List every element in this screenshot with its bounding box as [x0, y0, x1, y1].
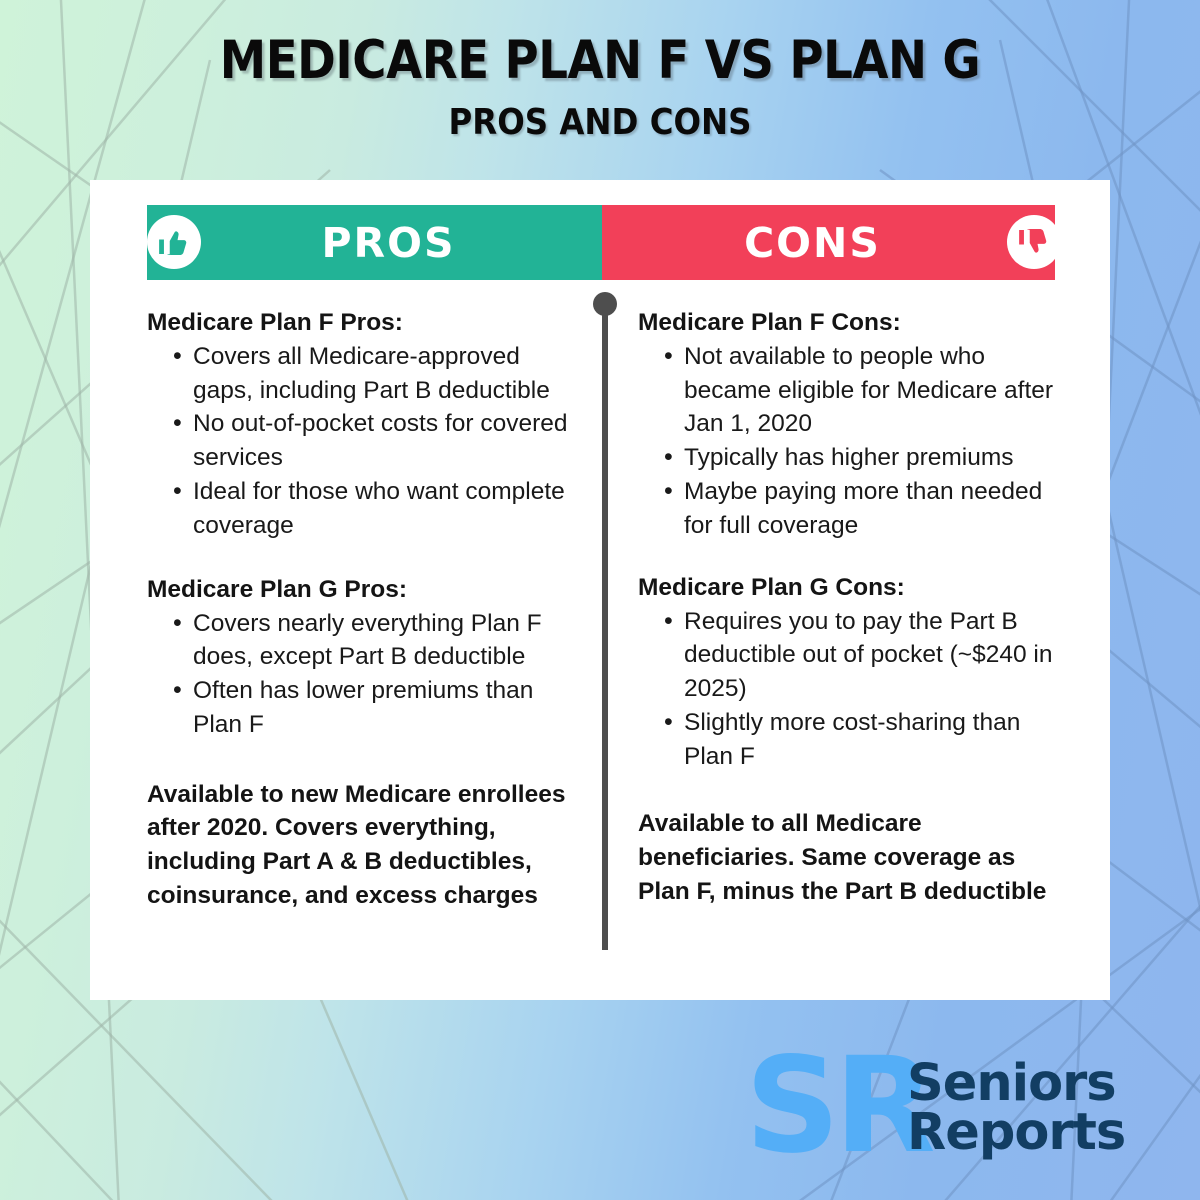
section-heading: Medicare Plan G Pros: — [147, 575, 577, 606]
logo-monogram: SR — [745, 1040, 930, 1172]
page-title: MEDICARE PLAN F VS PLAN G — [72, 34, 1128, 88]
list-item: Covers all Medicare-approved gaps, inclu… — [147, 340, 577, 408]
list-item: Requires you to pay the Part B deductibl… — [638, 605, 1063, 706]
bullet-list: Requires you to pay the Part B deductibl… — [638, 605, 1063, 774]
spacer — [638, 545, 1063, 573]
cons-header-bar: CONS — [602, 205, 1055, 280]
cons-summary: Available to all Medicare beneficiaries.… — [638, 807, 1063, 908]
list-item: No out-of-pocket costs for covered servi… — [147, 407, 577, 475]
pros-header-bar: PROS — [147, 205, 602, 280]
section-heading: Medicare Plan G Cons: — [638, 573, 1063, 604]
list-item: Covers nearly everything Plan F does, ex… — [147, 607, 577, 675]
bullet-list: Covers nearly everything Plan F does, ex… — [147, 607, 577, 742]
section-heading: Medicare Plan F Cons: — [638, 308, 1063, 339]
column-divider — [602, 305, 608, 950]
list-item: Typically has higher premiums — [638, 441, 1063, 475]
seniors-reports-logo[interactable]: SR Seniors Reports — [745, 1040, 1175, 1185]
pros-summary: Available to new Medicare enrollees afte… — [147, 778, 577, 913]
logo-line-2: Reports — [907, 1109, 1125, 1158]
thumbs-up-icon — [147, 215, 201, 269]
cons-section-plan-f: Medicare Plan F Cons: Not available to p… — [638, 308, 1063, 543]
pros-label: PROS — [321, 219, 455, 267]
logo-wordmark: Seniors Reports — [907, 1060, 1125, 1158]
logo-line-1: Seniors — [907, 1060, 1125, 1109]
pros-section-plan-f: Medicare Plan F Pros: Covers all Medicar… — [147, 308, 577, 543]
pros-column: Medicare Plan F Pros: Covers all Medicar… — [147, 308, 577, 913]
page-header: MEDICARE PLAN F VS PLAN G PROS AND CONS — [0, 34, 1200, 143]
page-subtitle: PROS AND CONS — [60, 102, 1140, 143]
thumbs-down-icon — [1007, 215, 1061, 269]
cons-section-plan-g: Medicare Plan G Cons: Requires you to pa… — [638, 573, 1063, 774]
comparison-card: PROS CONS Medicare Plan F Pros: Covers a… — [90, 180, 1110, 1000]
cons-column: Medicare Plan F Cons: Not available to p… — [638, 308, 1063, 909]
spacer — [147, 545, 577, 575]
bullet-list: Not available to people who became eligi… — [638, 340, 1063, 543]
list-item: Not available to people who became eligi… — [638, 340, 1063, 441]
list-item: Slightly more cost-sharing than Plan F — [638, 706, 1063, 774]
column-divider-dot — [593, 292, 617, 316]
spacer — [638, 775, 1063, 807]
cons-label: CONS — [744, 219, 881, 267]
list-item: Maybe paying more than needed for full c… — [638, 475, 1063, 543]
bullet-list: Covers all Medicare-approved gaps, inclu… — [147, 340, 577, 543]
list-item: Ideal for those who want complete covera… — [147, 475, 577, 543]
pros-section-plan-g: Medicare Plan G Pros: Covers nearly ever… — [147, 575, 577, 742]
spacer — [147, 744, 577, 778]
section-heading: Medicare Plan F Pros: — [147, 308, 577, 339]
list-item: Often has lower premiums than Plan F — [147, 674, 577, 742]
